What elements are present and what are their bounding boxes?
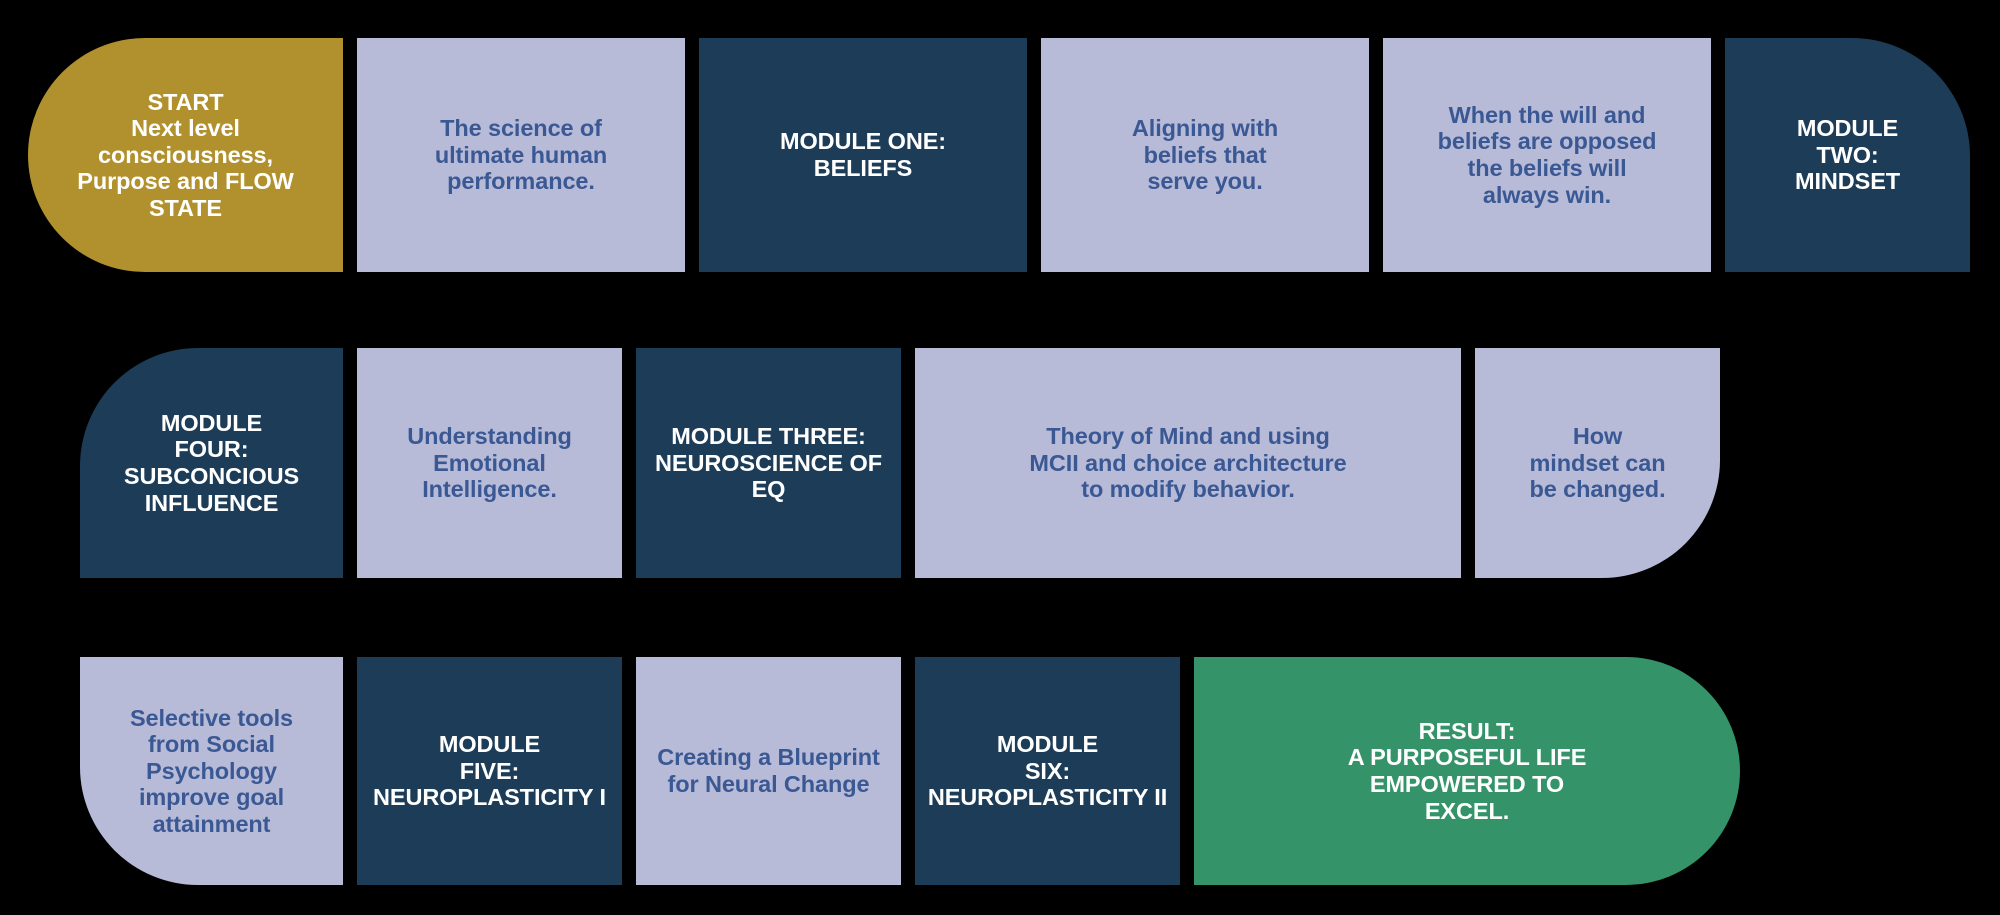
cell-result[interactable]: RESULT: A PURPOSEFUL LIFE EMPOWERED TO E… <box>1194 657 1740 885</box>
cell-creating-blueprint-label: Creating a Blueprint for Neural Change <box>657 744 880 797</box>
cell-module-one-beliefs[interactable]: MODULE ONE: BELIEFS <box>699 38 1027 272</box>
roadmap-row-1: START Next level consciousness, Purpose … <box>28 38 1970 272</box>
cell-start[interactable]: START Next level consciousness, Purpose … <box>28 38 343 272</box>
cell-start-label: START Next level consciousness, Purpose … <box>77 89 293 222</box>
cell-module-five-neuroplasticity-i-label: MODULE FIVE: NEUROPLASTICITY I <box>373 731 606 811</box>
cell-selective-tools[interactable]: Selective tools from Social Psychology i… <box>80 657 343 885</box>
cell-will-versus-beliefs[interactable]: When the will and beliefs are opposed th… <box>1383 38 1711 272</box>
cell-science-of-performance[interactable]: The science of ultimate human performanc… <box>357 38 685 272</box>
cell-module-four-subconcious-label: MODULE FOUR: SUBCONCIOUS INFLUENCE <box>124 410 299 516</box>
cell-how-mindset-changes-label: How mindset can be changed. <box>1529 423 1665 503</box>
cell-science-of-performance-label: The science of ultimate human performanc… <box>435 115 607 195</box>
cell-will-versus-beliefs-label: When the will and beliefs are opposed th… <box>1438 102 1657 208</box>
cell-module-five-neuroplasticity-i[interactable]: MODULE FIVE: NEUROPLASTICITY I <box>357 657 622 885</box>
cell-selective-tools-label: Selective tools from Social Psychology i… <box>130 705 293 838</box>
cell-module-four-subconcious[interactable]: MODULE FOUR: SUBCONCIOUS INFLUENCE <box>80 348 343 578</box>
cell-module-one-beliefs-label: MODULE ONE: BELIEFS <box>780 128 946 181</box>
module-roadmap-diagram: START Next level consciousness, Purpose … <box>0 0 2000 915</box>
cell-module-two-mindset[interactable]: MODULE TWO: MINDSET <box>1725 38 1970 272</box>
cell-module-three-neuroscience[interactable]: MODULE THREE: NEUROSCIENCE OF EQ <box>636 348 901 578</box>
roadmap-row-2: MODULE FOUR: SUBCONCIOUS INFLUENCE Under… <box>80 348 1720 578</box>
cell-how-mindset-changes[interactable]: How mindset can be changed. <box>1475 348 1720 578</box>
serpentine-notch-lower <box>318 578 2000 656</box>
cell-module-three-neuroscience-label: MODULE THREE: NEUROSCIENCE OF EQ <box>655 423 882 503</box>
cell-module-two-mindset-label: MODULE TWO: MINDSET <box>1795 115 1900 195</box>
cell-module-six-neuroplasticity-ii[interactable]: MODULE SIX: NEUROPLASTICITY II <box>915 657 1180 885</box>
cell-aligning-beliefs[interactable]: Aligning with beliefs that serve you. <box>1041 38 1369 272</box>
cell-understanding-eq[interactable]: Understanding Emotional Intelligence. <box>357 348 622 578</box>
serpentine-notch-upper <box>0 272 1745 348</box>
cell-theory-of-mind[interactable]: Theory of Mind and using MCII and choice… <box>915 348 1461 578</box>
roadmap-row-3: Selective tools from Social Psychology i… <box>80 657 1740 885</box>
cell-result-label: RESULT: A PURPOSEFUL LIFE EMPOWERED TO E… <box>1348 718 1587 824</box>
cell-theory-of-mind-label: Theory of Mind and using MCII and choice… <box>1029 423 1346 503</box>
cell-aligning-beliefs-label: Aligning with beliefs that serve you. <box>1132 115 1278 195</box>
cell-understanding-eq-label: Understanding Emotional Intelligence. <box>407 423 572 503</box>
cell-module-six-neuroplasticity-ii-label: MODULE SIX: NEUROPLASTICITY II <box>928 731 1167 811</box>
cell-creating-blueprint[interactable]: Creating a Blueprint for Neural Change <box>636 657 901 885</box>
